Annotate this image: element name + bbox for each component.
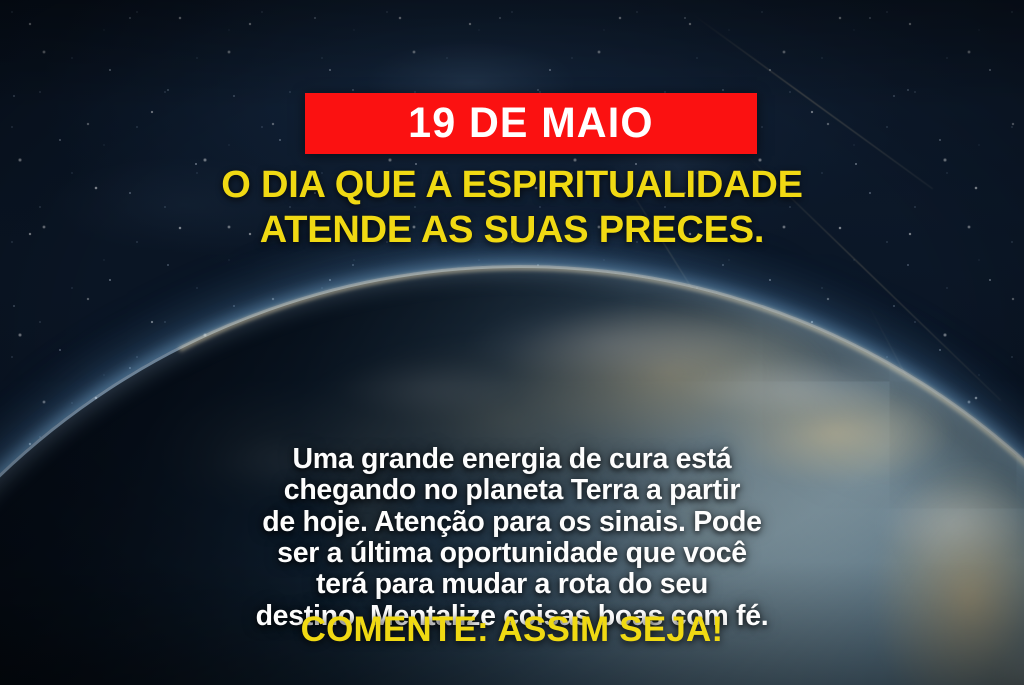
body-line: chegando no planeta Terra a partir bbox=[0, 475, 1024, 506]
body-line: ser a última oportunidade que você bbox=[0, 538, 1024, 569]
social-media-poster: 19 DE MAIO O DIA QUE A ESPIRITUALIDADE A… bbox=[0, 0, 1024, 685]
call-to-action-text: COMENTE: ASSIM SEJA! bbox=[0, 612, 1024, 647]
body-line: de hoje. Atenção para os sinais. Pode bbox=[0, 507, 1024, 538]
body-line: terá para mudar a rota do seu bbox=[0, 569, 1024, 600]
headline-line-2: ATENDE AS SUAS PRECES. bbox=[0, 208, 1024, 253]
headline: O DIA QUE A ESPIRITUALIDADE ATENDE AS SU… bbox=[0, 163, 1024, 253]
poster-content: 19 DE MAIO O DIA QUE A ESPIRITUALIDADE A… bbox=[0, 0, 1024, 685]
body-line: Uma grande energia de cura está bbox=[0, 444, 1024, 475]
date-banner: 19 DE MAIO bbox=[305, 93, 757, 154]
date-banner-text: 19 DE MAIO bbox=[408, 102, 654, 145]
headline-line-1: O DIA QUE A ESPIRITUALIDADE bbox=[0, 163, 1024, 208]
body-copy: Uma grande energia de cura está chegando… bbox=[0, 444, 1024, 632]
